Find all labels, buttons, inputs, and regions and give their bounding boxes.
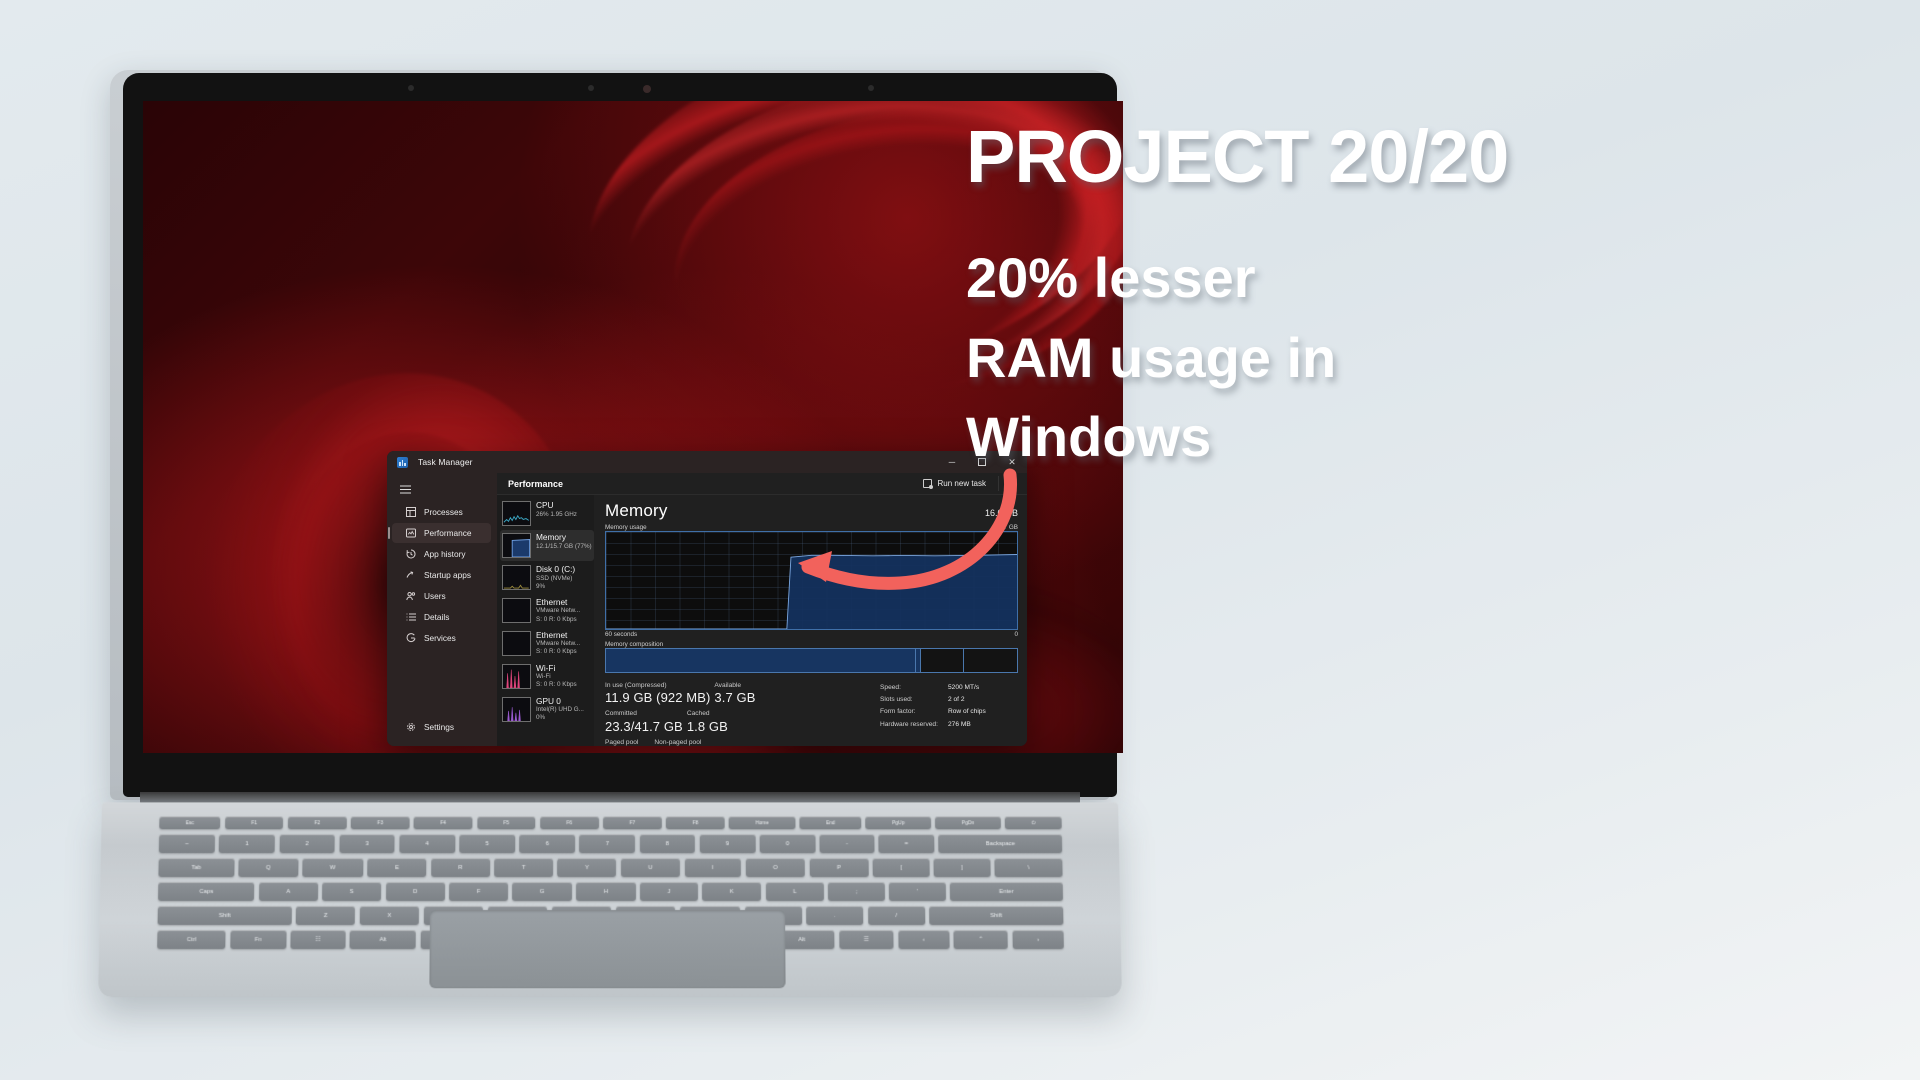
key-7[interactable]: 7 bbox=[580, 834, 636, 853]
detail-form-factor: Form factor: Row of chips bbox=[880, 706, 1018, 718]
device-item-cpu[interactable]: CPU 26% 1.95 GHz bbox=[500, 498, 594, 529]
memory-stats: In use (Compressed) 11.9 GB (922 MB) Ava… bbox=[605, 681, 1018, 746]
overlay-line-2: RAM usage in bbox=[966, 318, 1866, 398]
detail-value: 2 of 2 bbox=[948, 694, 965, 706]
key-backslash[interactable]: \ bbox=[995, 858, 1063, 877]
key-f[interactable]: F bbox=[449, 882, 508, 901]
sidebar-item-users[interactable]: Users bbox=[392, 586, 491, 606]
key-i[interactable]: I bbox=[685, 858, 742, 877]
memory-composition-bar bbox=[605, 648, 1018, 673]
device-value: S: 0 R: 0 Kbps bbox=[536, 616, 580, 624]
sidebar-item-label: Settings bbox=[424, 722, 454, 732]
webcam-indicator-icon bbox=[588, 85, 594, 91]
stat-caption: Available bbox=[714, 681, 755, 690]
key-x[interactable]: X bbox=[360, 906, 420, 925]
key-arrow-right[interactable]: › bbox=[1012, 930, 1063, 949]
device-detail: SSD (NVMe) bbox=[536, 575, 575, 583]
overlay-line-1: 20% lesser bbox=[966, 238, 1866, 318]
detail-value: 5200 MT/s bbox=[948, 682, 979, 694]
device-name: Ethernet bbox=[536, 631, 580, 641]
key-bracket-right[interactable]: ] bbox=[934, 858, 991, 877]
device-item-memory[interactable]: Memory 12.1/15.7 GB (77%) bbox=[500, 530, 594, 561]
processes-icon bbox=[405, 507, 416, 518]
sidebar-item-processes[interactable]: Processes bbox=[392, 502, 491, 522]
key-f4[interactable]: F4 bbox=[414, 816, 473, 829]
device-detail: Intel(R) UHD G... bbox=[536, 706, 584, 714]
stat-available: Available 3.7 GB bbox=[714, 681, 755, 706]
device-name: Wi-Fi bbox=[536, 664, 577, 674]
keyboard-row-qwerty: Tab Q W E R T Y U I O P [ ] \ bbox=[158, 858, 1062, 877]
overlay-body: 20% lesser RAM usage in Windows bbox=[966, 238, 1866, 477]
trackpad[interactable] bbox=[429, 910, 785, 988]
key-2[interactable]: 2 bbox=[279, 834, 335, 853]
key-q[interactable]: Q bbox=[238, 858, 298, 877]
key-caps-lock[interactable]: Caps bbox=[158, 882, 255, 901]
sidebar: Processes Performance bbox=[387, 473, 497, 746]
key-z[interactable]: Z bbox=[296, 906, 355, 925]
wifi-thumbnail bbox=[502, 664, 531, 689]
composition-label: Memory composition bbox=[605, 641, 1018, 648]
key-3[interactable]: 3 bbox=[339, 834, 395, 853]
overlay-line-3: Windows bbox=[966, 397, 1866, 477]
key-bracket-left[interactable]: [ bbox=[873, 858, 930, 877]
ethernet-thumbnail bbox=[502, 631, 531, 656]
key-pgup[interactable]: PgUp bbox=[866, 816, 931, 829]
window-title: Task Manager bbox=[418, 457, 473, 467]
detail-key: Form factor: bbox=[880, 706, 948, 718]
key-tab[interactable]: Tab bbox=[158, 858, 234, 877]
key-arrow-left[interactable]: ‹ bbox=[898, 930, 949, 949]
key-s[interactable]: S bbox=[322, 882, 381, 901]
sidebar-item-label: Performance bbox=[424, 528, 472, 538]
device-item-gpu[interactable]: GPU 0 Intel(R) UHD G... 0% bbox=[500, 694, 594, 726]
sidebar-item-label: Details bbox=[424, 612, 449, 622]
key-shift-left[interactable]: Shift bbox=[158, 906, 292, 925]
key-shift-right[interactable]: Shift bbox=[929, 906, 1063, 925]
key-arrow-updown[interactable]: ⌃ bbox=[954, 930, 1008, 949]
stat-value: 1.8 GB bbox=[687, 719, 728, 735]
device-value: S: 0 R: 0 Kbps bbox=[536, 648, 580, 656]
memory-stats-left: In use (Compressed) 11.9 GB (922 MB) Ava… bbox=[605, 681, 880, 746]
gpu-thumbnail bbox=[502, 697, 531, 722]
stat-row: Committed 23.3/41.7 GB Cached 1.8 GB bbox=[605, 709, 880, 734]
key-esc[interactable]: Esc bbox=[159, 816, 220, 829]
key-equals[interactable]: = bbox=[878, 834, 934, 853]
key-e[interactable]: E bbox=[367, 858, 426, 877]
device-detail: VMware Netw... bbox=[536, 607, 580, 615]
key-f3[interactable]: F3 bbox=[351, 816, 410, 829]
key-t[interactable]: T bbox=[495, 858, 554, 877]
key-o[interactable]: O bbox=[746, 858, 806, 877]
detail-key: Speed: bbox=[880, 682, 948, 694]
memory-thumbnail bbox=[502, 533, 531, 558]
device-item-wifi[interactable]: Wi-Fi Wi-Fi S: 0 R: 0 Kbps bbox=[500, 661, 594, 693]
key-fn[interactable]: Fn bbox=[230, 930, 286, 949]
device-item-ethernet-1[interactable]: Ethernet VMware Netw... S: 0 R: 0 Kbps bbox=[500, 595, 594, 627]
key-w[interactable]: W bbox=[302, 858, 363, 877]
detail-speed: Speed: 5200 MT/s bbox=[880, 682, 1018, 694]
cpu-thumbnail bbox=[502, 501, 531, 526]
device-detail: 12.1/15.7 GB (77%) bbox=[536, 543, 591, 551]
device-item-disk[interactable]: Disk 0 (C:) SSD (NVMe) 9% bbox=[500, 562, 594, 594]
overlay-headline: PROJECT 20/20 bbox=[966, 120, 1866, 194]
chart-axis-right: 0 bbox=[1014, 631, 1018, 638]
stat-caption: Cached bbox=[687, 709, 728, 718]
hamburger-icon[interactable] bbox=[387, 477, 497, 501]
key-menu[interactable]: ☰ bbox=[839, 930, 894, 949]
stat-value: 11.9 GB (922 MB) bbox=[605, 690, 710, 706]
device-name: Memory bbox=[536, 533, 591, 543]
gear-icon bbox=[405, 722, 416, 733]
disk-thumbnail bbox=[502, 565, 531, 590]
performance-icon bbox=[405, 528, 416, 539]
startup-icon bbox=[405, 570, 416, 581]
key-windows[interactable]: ☷ bbox=[291, 930, 346, 949]
screenshot-stage: Task Manager ─ ✕ bbox=[0, 0, 1920, 1080]
stat-paged-pool: Paged pool 935 MB bbox=[605, 738, 650, 746]
key-f7[interactable]: F7 bbox=[603, 816, 662, 829]
key-pgdn[interactable]: PgDn bbox=[935, 816, 1000, 829]
keyboard-row-function: Esc F1 F2 F3 F4 F5 F6 F7 F8 Home End PgU… bbox=[159, 816, 1062, 829]
keyboard-row-numbers: ~ 1 2 3 4 5 6 7 8 9 0 - = Backspace bbox=[159, 834, 1062, 853]
stat-non-paged-pool: Non-paged pool 946 MB bbox=[654, 738, 701, 746]
key-end[interactable]: End bbox=[800, 816, 862, 829]
detail-key: Slots used: bbox=[880, 694, 948, 706]
device-name: GPU 0 bbox=[536, 697, 584, 707]
key-enter[interactable]: Enter bbox=[950, 882, 1063, 901]
sensor-icon bbox=[868, 85, 874, 91]
key-8[interactable]: 8 bbox=[640, 834, 696, 853]
sidebar-item-app-history[interactable]: App history bbox=[392, 544, 491, 564]
key-backtick[interactable]: ~ bbox=[159, 834, 215, 853]
key-r[interactable]: R bbox=[431, 858, 490, 877]
device-value: 0% bbox=[536, 714, 584, 722]
device-list: CPU 26% 1.95 GHz bbox=[497, 495, 594, 746]
sidebar-item-services[interactable]: Services bbox=[392, 628, 491, 648]
sidebar-item-label: Services bbox=[424, 633, 456, 643]
key-quote[interactable]: ' bbox=[889, 882, 945, 901]
key-y[interactable]: Y bbox=[558, 858, 617, 877]
services-icon bbox=[405, 633, 416, 644]
sidebar-item-startup-apps[interactable]: Startup apps bbox=[392, 565, 491, 585]
details-icon bbox=[405, 612, 416, 623]
sidebar-settings[interactable]: Settings bbox=[387, 716, 497, 738]
stat-in-use: In use (Compressed) 11.9 GB (922 MB) bbox=[605, 681, 710, 706]
key-4[interactable]: 4 bbox=[399, 834, 455, 853]
task-manager-icon bbox=[397, 457, 408, 468]
key-backspace[interactable]: Backspace bbox=[939, 834, 1063, 853]
webcam-row bbox=[123, 85, 1117, 95]
key-f1[interactable]: F1 bbox=[225, 816, 284, 829]
key-p[interactable]: P bbox=[809, 858, 868, 877]
key-6[interactable]: 6 bbox=[519, 834, 575, 853]
annotation-arrow-icon bbox=[760, 455, 1020, 615]
key-a[interactable]: A bbox=[259, 882, 318, 901]
key-home[interactable]: Home bbox=[729, 816, 795, 829]
key-d[interactable]: D bbox=[386, 882, 445, 901]
sidebar-item-details[interactable]: Details bbox=[392, 607, 491, 627]
device-name: Disk 0 (C:) bbox=[536, 565, 575, 575]
device-value: S: 0 R: 0 Kbps bbox=[536, 681, 577, 689]
key-k[interactable]: K bbox=[702, 882, 761, 901]
key-1[interactable]: 1 bbox=[219, 834, 275, 853]
sidebar-item-settings[interactable]: Settings bbox=[392, 717, 491, 737]
stat-row: In use (Compressed) 11.9 GB (922 MB) Ava… bbox=[605, 681, 880, 706]
chart-axis-left: 60 seconds bbox=[605, 631, 1014, 638]
sensor-icon bbox=[408, 85, 414, 91]
stat-value: 3.7 GB bbox=[714, 690, 755, 706]
stat-row: Paged pool 935 MB Non-paged pool 946 MB bbox=[605, 738, 880, 746]
webcam-icon bbox=[643, 85, 651, 93]
key-f2[interactable]: F2 bbox=[288, 816, 347, 829]
key-ctrl[interactable]: Ctrl bbox=[157, 930, 226, 949]
device-name: CPU bbox=[536, 501, 577, 511]
chart-axis-labels: 60 seconds 0 bbox=[605, 631, 1018, 638]
key-0[interactable]: 0 bbox=[760, 834, 816, 853]
composition-standby bbox=[921, 649, 964, 672]
sidebar-item-label: App history bbox=[424, 549, 466, 559]
history-icon bbox=[405, 549, 416, 560]
marketing-overlay: PROJECT 20/20 20% lesser RAM usage in Wi… bbox=[966, 120, 1866, 477]
users-icon bbox=[405, 591, 416, 602]
key-f8[interactable]: F8 bbox=[666, 816, 725, 829]
key-f5[interactable]: F5 bbox=[477, 816, 536, 829]
memory-details: Speed: 5200 MT/s Slots used: 2 of 2 bbox=[880, 681, 1018, 746]
key-slash[interactable]: / bbox=[868, 906, 925, 925]
composition-in-use bbox=[606, 649, 916, 672]
key-semicolon[interactable]: ; bbox=[828, 882, 885, 901]
stat-caption: Paged pool bbox=[605, 738, 650, 746]
key-5[interactable]: 5 bbox=[459, 834, 515, 853]
key-f6[interactable]: F6 bbox=[540, 816, 599, 829]
sidebar-item-label: Processes bbox=[424, 507, 463, 517]
device-name: Ethernet bbox=[536, 598, 580, 608]
key-power[interactable]: ⏻ bbox=[1005, 816, 1062, 829]
sidebar-item-performance[interactable]: Performance bbox=[392, 523, 491, 543]
device-detail: 26% 1.95 GHz bbox=[536, 511, 577, 519]
device-detail: VMware Netw... bbox=[536, 640, 580, 648]
stat-value: 23.3/41.7 GB bbox=[605, 719, 683, 735]
ethernet-thumbnail bbox=[502, 598, 531, 623]
key-alt-left[interactable]: Alt bbox=[350, 930, 416, 949]
key-g[interactable]: G bbox=[512, 882, 572, 901]
composition-free bbox=[964, 649, 1017, 672]
device-value: 9% bbox=[536, 583, 575, 591]
sidebar-item-label: Users bbox=[424, 591, 446, 601]
device-detail: Wi-Fi bbox=[536, 673, 577, 681]
detail-key: Hardware reserved: bbox=[880, 719, 948, 731]
key-9[interactable]: 9 bbox=[700, 834, 756, 853]
detail-slots-used: Slots used: 2 of 2 bbox=[880, 694, 1018, 706]
stat-caption: In use (Compressed) bbox=[605, 681, 710, 690]
detail-hardware-reserved: Hardware reserved: 276 MB bbox=[880, 719, 1018, 731]
key-minus[interactable]: - bbox=[820, 834, 874, 853]
laptop-lid: Task Manager ─ ✕ bbox=[110, 70, 1110, 800]
stat-cached: Cached 1.8 GB bbox=[687, 709, 728, 734]
sidebar-item-label: Startup apps bbox=[424, 570, 471, 580]
key-h[interactable]: H bbox=[576, 882, 635, 901]
key-period[interactable]: . bbox=[806, 906, 863, 925]
laptop-base: Esc F1 F2 F3 F4 F5 F6 F7 F8 Home End PgU… bbox=[100, 792, 1120, 992]
stat-caption: Committed bbox=[605, 709, 683, 718]
keyboard-deck: Esc F1 F2 F3 F4 F5 F6 F7 F8 Home End PgU… bbox=[98, 802, 1122, 997]
detail-value: Row of chips bbox=[948, 706, 986, 718]
detail-value: 276 MB bbox=[948, 719, 971, 731]
device-item-ethernet-2[interactable]: Ethernet VMware Netw... S: 0 R: 0 Kbps bbox=[500, 628, 594, 660]
stat-committed: Committed 23.3/41.7 GB bbox=[605, 709, 683, 734]
stat-caption: Non-paged pool bbox=[654, 738, 701, 746]
keyboard-row-asdf: Caps A S D F G H J K L ; ' Enter bbox=[158, 882, 1063, 901]
key-u[interactable]: U bbox=[621, 858, 680, 877]
key-j[interactable]: J bbox=[640, 882, 698, 901]
key-l[interactable]: L bbox=[766, 882, 824, 901]
